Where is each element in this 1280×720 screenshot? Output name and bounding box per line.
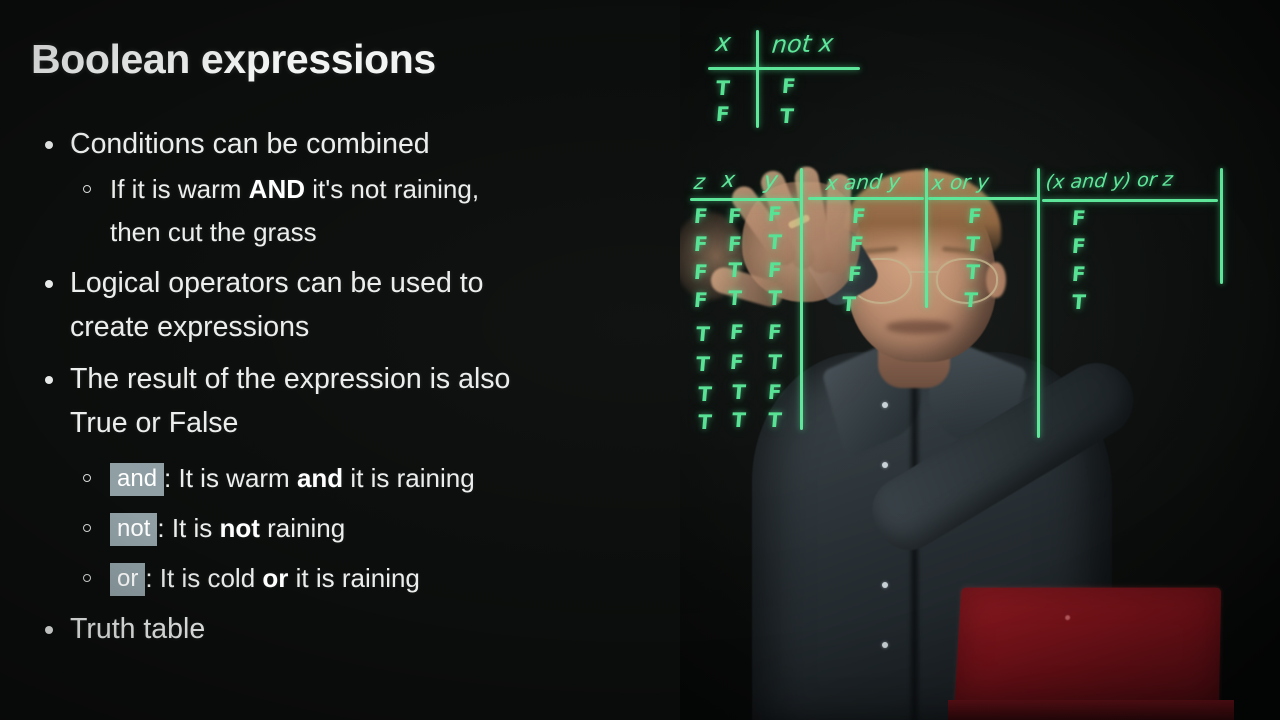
shirt-button [882,582,888,588]
main-table-cell-x: F [729,320,745,344]
bullet-text-bold: not [220,513,260,543]
bullet-text-line2: True or False [70,401,680,445]
main-table-header-combined: (x and y) or z [1045,168,1174,193]
bullet-warm-and-not-raining: If it is warm AND it's not raining, then… [0,168,680,254]
bullet-text-part: If it is warm [110,174,249,204]
main-table-cell-y: F [767,320,783,344]
bullet-text-part: it is raining [288,563,420,593]
bullet-text-line2: then cut the grass [110,211,680,254]
slide-panel: Boolean expressions Conditions can be co… [0,0,680,720]
bullet-text-bold: and [297,463,343,493]
bullet-truth-table: Truth table [0,607,680,651]
main-table-cell-combined: F [1071,234,1087,258]
main-table-cell-x: F [729,350,745,374]
bullet-text-line1: Logical operators can be used to [70,267,484,299]
bullet-text: Truth table [70,613,205,645]
bullet-text-part: it is raining [343,463,475,493]
code-span-not: not [110,513,157,546]
bullet-conditions-combined: Conditions can be combined [0,122,680,166]
main-table-header-z: z [693,170,706,194]
main-table-cell-z: T [695,352,711,376]
main-table-cell-z: T [697,410,713,434]
presenter-finger [824,174,851,275]
bullet-operator-not: not: It is not raining [0,507,680,550]
code-span-and: and [110,463,164,496]
red-laptop [955,588,1221,704]
bullet-text-bold: or [262,563,288,593]
laptop-logo-icon [1065,615,1070,620]
glasses-bridge [908,271,938,273]
bullet-text-line1: The result of the expression is also [70,363,510,395]
bullet-text: Conditions can be combined [70,128,430,160]
main-table-cell-combined: T [1071,290,1087,314]
bullet-list: Conditions can be combined If it is warm… [0,122,680,653]
presenter-mouth [886,320,952,334]
bullet-text-bold: AND [249,174,305,204]
main-table-cell-combined: F [1071,206,1087,230]
main-table-column-rule [1220,168,1223,284]
main-table-cell-z: T [695,322,711,346]
bullet-text-line2: create expressions [70,305,680,349]
bullet-text-part: : It is warm [164,463,297,493]
bullet-text-part: raining [260,513,345,543]
bullet-operator-or: or: It is cold or it is raining [0,557,680,600]
bullet-operator-and: and: It is warm and it is raining [0,457,680,500]
bullet-text-part: : It is cold [145,563,262,593]
shirt-button [882,642,888,648]
lecture-frame: Boolean expressions Conditions can be co… [0,0,1280,720]
shirt-button [882,402,888,408]
main-table-header-x: x [721,168,737,193]
main-table-cell-x: T [731,380,747,404]
code-span-or: or [110,563,145,596]
main-table-header-rule [1042,199,1218,202]
laptop-base [948,700,1234,720]
bullet-result-true-or-false: The result of the expression is also Tru… [0,357,680,445]
main-table-cell-z: T [697,382,713,406]
bullet-logical-operators: Logical operators can be used to create … [0,261,680,349]
shirt-button [882,462,888,468]
page-title: Boolean expressions [31,36,436,83]
main-table-cell-y: T [767,350,783,374]
bullet-text-part: : It is [157,513,219,543]
lightboard-video: x not x T F F T z x y x and y x or y (x … [680,0,1280,720]
main-table-cell-combined: F [1071,262,1087,286]
main-table-cell-x: T [731,408,747,432]
bullet-text-part: it's not raining, [305,174,479,204]
glasses-lens-right [936,258,998,304]
